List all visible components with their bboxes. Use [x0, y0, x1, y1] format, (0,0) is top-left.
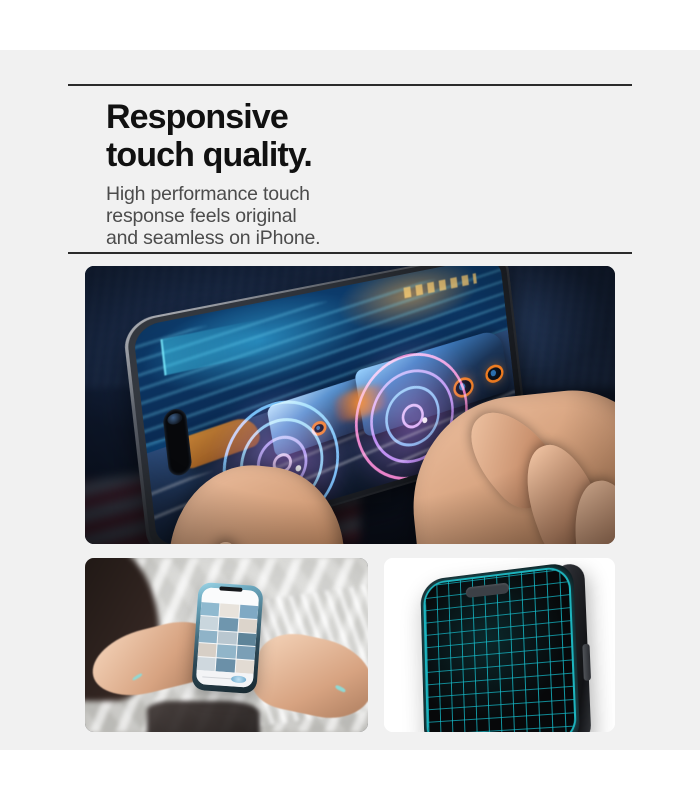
photo-grid: [197, 602, 259, 674]
app-tab-bar: [196, 670, 254, 689]
iphone-portrait: [192, 582, 264, 694]
photo-thumbnail: [238, 632, 257, 646]
photo-thumbnail: [240, 605, 259, 619]
wheel-icon: [487, 365, 502, 381]
phone-screen: [196, 588, 260, 689]
gaming-touch-hero-image: [85, 266, 615, 544]
photo-thumbnail: [198, 643, 217, 657]
photo-thumbnail: [199, 630, 218, 644]
phone-body: [420, 562, 580, 732]
photo-thumbnail: [201, 602, 220, 616]
copy-block: Responsive touch quality. High performan…: [106, 98, 576, 249]
divider-bottom: [68, 252, 632, 254]
photo-scrolling-image: [85, 558, 368, 732]
photo-thumbnail: [218, 631, 237, 645]
photo-thumbnail: [237, 646, 256, 660]
touch-sensor-grid-image: [384, 558, 615, 732]
fingernail: [132, 672, 143, 681]
foreground-shadow: [147, 701, 260, 732]
fingernail: [335, 684, 346, 692]
hero-artwork: [85, 266, 615, 544]
photo-thumbnail: [200, 616, 219, 630]
product-feature-page: Responsive touch quality. High performan…: [0, 0, 700, 800]
iphone-closeup: [420, 562, 580, 732]
bedroom-artwork: [85, 558, 368, 732]
divider-top: [68, 84, 632, 86]
page-subtitle: High performance touch response feels or…: [106, 183, 576, 249]
volume-button: [582, 644, 591, 681]
sensor-grid-artwork: [384, 558, 615, 732]
photo-thumbnail: [217, 645, 236, 659]
photo-thumbnail: [220, 603, 239, 617]
photo-thumbnail: [219, 617, 238, 631]
page-title: Responsive touch quality.: [106, 98, 576, 174]
left-thumb: [206, 542, 247, 544]
photo-thumbnail: [239, 619, 258, 633]
screen-bezel: [424, 567, 574, 732]
